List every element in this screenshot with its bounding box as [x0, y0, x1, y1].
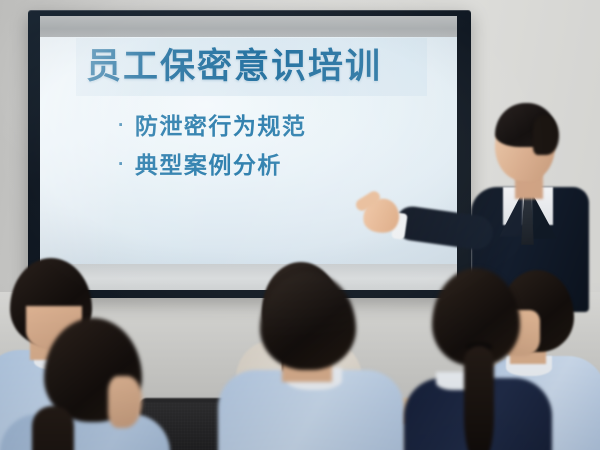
slide-bullet-list: · 防泄密行为规范 · 典型案例分析 [118, 108, 439, 186]
audience-face-edge [108, 376, 142, 428]
bullet-marker-icon: · [118, 146, 126, 183]
audience-member-front-left [26, 318, 176, 450]
audience-member-front-right [418, 268, 558, 450]
ponytail [464, 346, 494, 450]
display-screen: 员工保密意识培训 · 防泄密行为规范 · 典型案例分析 [40, 16, 457, 290]
bullet-marker-icon: · [118, 107, 126, 144]
slide-bullet-1: · 防泄密行为规范 [118, 108, 439, 147]
training-room-photo: 员工保密意识培训 · 防泄密行为规范 · 典型案例分析 [0, 0, 600, 450]
audience-head [260, 272, 356, 370]
ponytail [32, 406, 74, 450]
wall-display: 员工保密意识培训 · 防泄密行为规范 · 典型案例分析 [28, 10, 471, 298]
slide-bullet-2: · 典型案例分析 [118, 147, 439, 186]
slide-bullet-2-text: 典型案例分析 [135, 147, 282, 184]
slide-bullet-1-text: 防泄密行为规范 [135, 108, 307, 145]
slide-title: 员工保密意识培训 [86, 42, 433, 92]
presenter-hair-side [533, 115, 559, 155]
screen-top-band [40, 16, 457, 37]
audience-member-front-center [252, 272, 382, 450]
